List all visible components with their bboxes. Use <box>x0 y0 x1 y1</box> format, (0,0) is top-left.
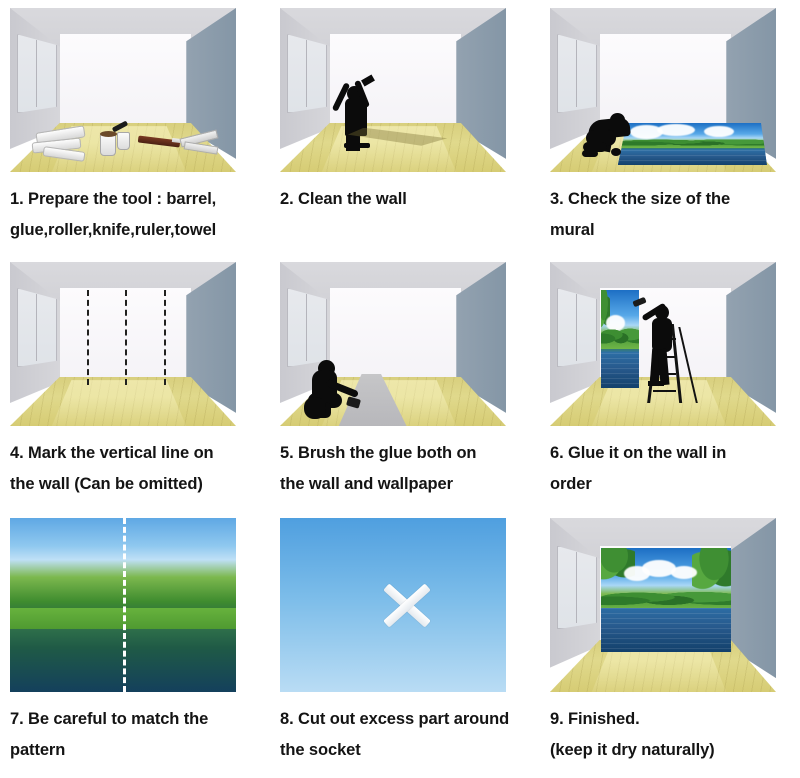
window-icon <box>557 288 598 367</box>
glue-brush-icon <box>346 396 361 408</box>
step-panel-8: 8. Cut out excess part around the socket <box>270 510 540 778</box>
step-caption: 2. Clean the wall <box>280 184 530 215</box>
step-caption: 3. Check the size of the mural <box>550 184 790 245</box>
person-silhouette <box>298 360 366 422</box>
mural-treeline <box>601 323 639 349</box>
hip <box>304 397 326 419</box>
torso <box>652 318 672 352</box>
finished-mural <box>601 548 731 652</box>
vertical-guide-line <box>125 290 127 385</box>
step-5-illustration <box>280 262 506 426</box>
room-scene <box>280 262 506 426</box>
step-caption: 4. Mark the vertical line on the wall (C… <box>10 438 260 499</box>
step-caption: 9. Finished. (keep it dry naturally) <box>550 704 790 765</box>
vertical-guide-line <box>87 290 89 385</box>
step-panel-1: 1. Prepare the tool : barrel, glue,rolle… <box>0 0 270 254</box>
mural-closeup <box>10 518 236 692</box>
step-panel-7: 7. Be careful to match the pattern <box>0 510 270 778</box>
window-icon <box>287 34 328 113</box>
mural-water <box>601 608 731 652</box>
step-panel-2: 2. Clean the wall <box>270 0 540 254</box>
step-panel-4: 4. Mark the vertical line on the wall (C… <box>0 254 270 510</box>
step-panel-3: 3. Check the size of the mural <box>540 0 800 254</box>
room-scene <box>280 8 506 172</box>
window-icon <box>557 34 598 113</box>
step-panel-9: 9. Finished. (keep it dry naturally) <box>540 510 800 778</box>
room-scene <box>550 518 776 692</box>
right-canopy <box>692 548 731 592</box>
mural-sky-section <box>280 518 506 692</box>
pattern-match-seam <box>123 518 126 692</box>
step-caption: 7. Be careful to match the pattern <box>10 704 260 765</box>
vertical-guide-line <box>164 290 166 385</box>
room-scene <box>10 262 236 426</box>
step-caption: 1. Prepare the tool : barrel, glue,rolle… <box>10 184 260 245</box>
foot <box>648 381 664 386</box>
step-caption: 6. Glue it on the wall in order <box>550 438 790 499</box>
towel-icon <box>183 141 218 154</box>
glue-barrel-icon <box>100 134 116 156</box>
person-silhouette <box>582 113 641 169</box>
foot <box>582 150 598 157</box>
window-icon <box>287 288 328 367</box>
step-7-illustration <box>10 518 236 692</box>
hand <box>611 148 621 156</box>
instruction-sheet: 1. Prepare the tool : barrel, glue,rolle… <box>0 0 800 778</box>
person-silhouette <box>332 79 382 154</box>
mural-treeline <box>601 587 731 610</box>
window-icon <box>17 34 58 113</box>
mural-water <box>601 353 639 388</box>
step-8-illustration <box>280 518 506 692</box>
room-scene <box>10 8 236 172</box>
step-9-illustration <box>550 518 776 692</box>
step-1-illustration <box>10 8 236 172</box>
step-panel-5: 5. Brush the glue both on the wall and w… <box>270 254 540 510</box>
shoes <box>344 143 370 148</box>
steps-grid: 1. Prepare the tool : barrel, glue,rolle… <box>0 0 800 778</box>
roller-icon <box>111 121 127 133</box>
window-icon <box>17 288 58 367</box>
step-2-illustration <box>280 8 506 172</box>
step-6-illustration <box>550 262 776 426</box>
step-caption: 5. Brush the glue both on the wall and w… <box>280 438 530 499</box>
step-panel-6: 6. Glue it on the wall in order <box>540 254 800 510</box>
step-4-illustration <box>10 262 236 426</box>
step-3-illustration <box>550 8 776 172</box>
window-icon <box>557 546 598 630</box>
step-caption: 8. Cut out excess part around the socket <box>280 704 530 765</box>
room-scene <box>550 8 776 172</box>
tool-group <box>28 116 218 165</box>
glue-barrel-icon <box>117 132 130 150</box>
person-silhouette <box>636 301 690 396</box>
socket-x-cut-icon <box>375 574 439 638</box>
room-scene <box>550 262 776 426</box>
